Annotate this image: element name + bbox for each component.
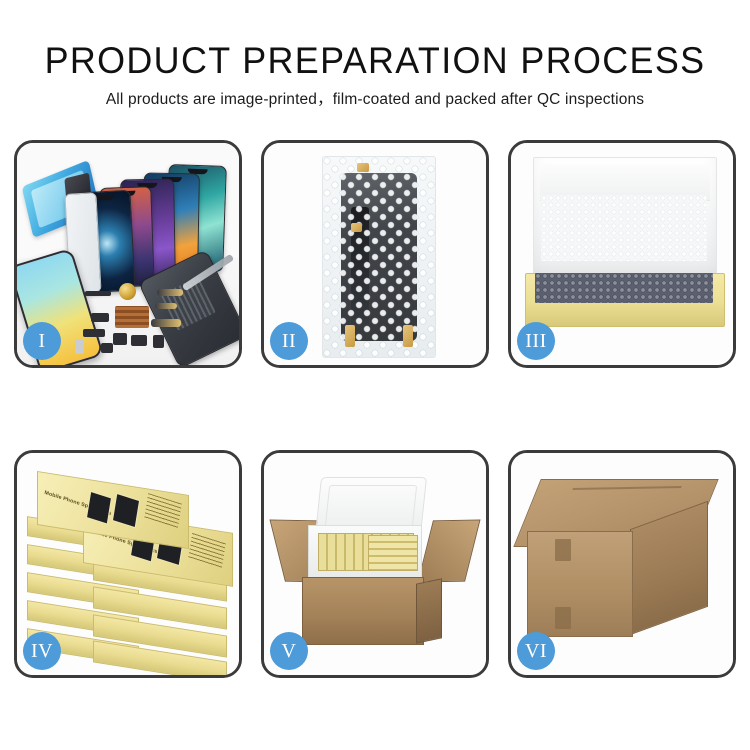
packed-boxes — [368, 535, 418, 571]
vibrator-component — [131, 335, 147, 346]
step-badge-2: II — [270, 322, 308, 360]
carton-flap-right — [417, 520, 480, 583]
tape-seal — [357, 163, 369, 172]
process-step-1[interactable]: I — [14, 140, 242, 368]
process-step-6[interactable]: VI — [508, 450, 736, 678]
flex-cable-component — [155, 303, 177, 309]
speaker-component — [119, 283, 136, 300]
step-badge-6: VI — [517, 632, 555, 670]
process-step-3[interactable]: III — [508, 140, 736, 368]
bubble-texture — [323, 157, 435, 357]
process-step-5[interactable]: V — [261, 450, 489, 678]
sim-tray-component — [75, 339, 84, 354]
product-preparation-infographic: PRODUCT PREPARATION PROCESS All products… — [0, 0, 750, 750]
step-badge-1: I — [23, 322, 61, 360]
flex-cable-component — [151, 319, 181, 327]
foam-sheet — [541, 195, 707, 261]
tape-seal — [403, 325, 413, 347]
shield-mesh-component — [115, 306, 149, 328]
carton-tape — [555, 539, 571, 561]
process-step-4[interactable]: Mobile Phone Spare Parts Mobile Phone Sp… — [14, 450, 242, 678]
page-subtitle: All products are image-printed，film-coat… — [0, 79, 750, 108]
tape-seal — [351, 223, 362, 232]
tape-seal — [345, 325, 355, 347]
connector-component — [91, 313, 109, 322]
process-step-2[interactable]: II — [261, 140, 489, 368]
camera-module-component — [113, 333, 127, 345]
packed-parts-tray — [535, 273, 713, 303]
step-badge-4: IV — [23, 632, 61, 670]
carton-side — [416, 578, 442, 644]
connector-component — [83, 329, 105, 337]
earpiece-component — [85, 291, 111, 296]
screw-set-component — [101, 343, 113, 353]
step-badge-3: III — [517, 322, 555, 360]
process-grid: I II — [14, 140, 736, 678]
carton-front-face — [527, 531, 633, 637]
notch-icon — [95, 195, 115, 201]
bubble-wrap-bag — [322, 156, 436, 358]
carton-body — [302, 577, 424, 645]
flex-cable-component — [157, 289, 183, 296]
step-badge-5: V — [270, 632, 308, 670]
button-component — [153, 335, 164, 348]
header: PRODUCT PREPARATION PROCESS All products… — [0, 0, 750, 108]
carton-tape — [555, 607, 571, 629]
page-title: PRODUCT PREPARATION PROCESS — [11, 0, 739, 79]
